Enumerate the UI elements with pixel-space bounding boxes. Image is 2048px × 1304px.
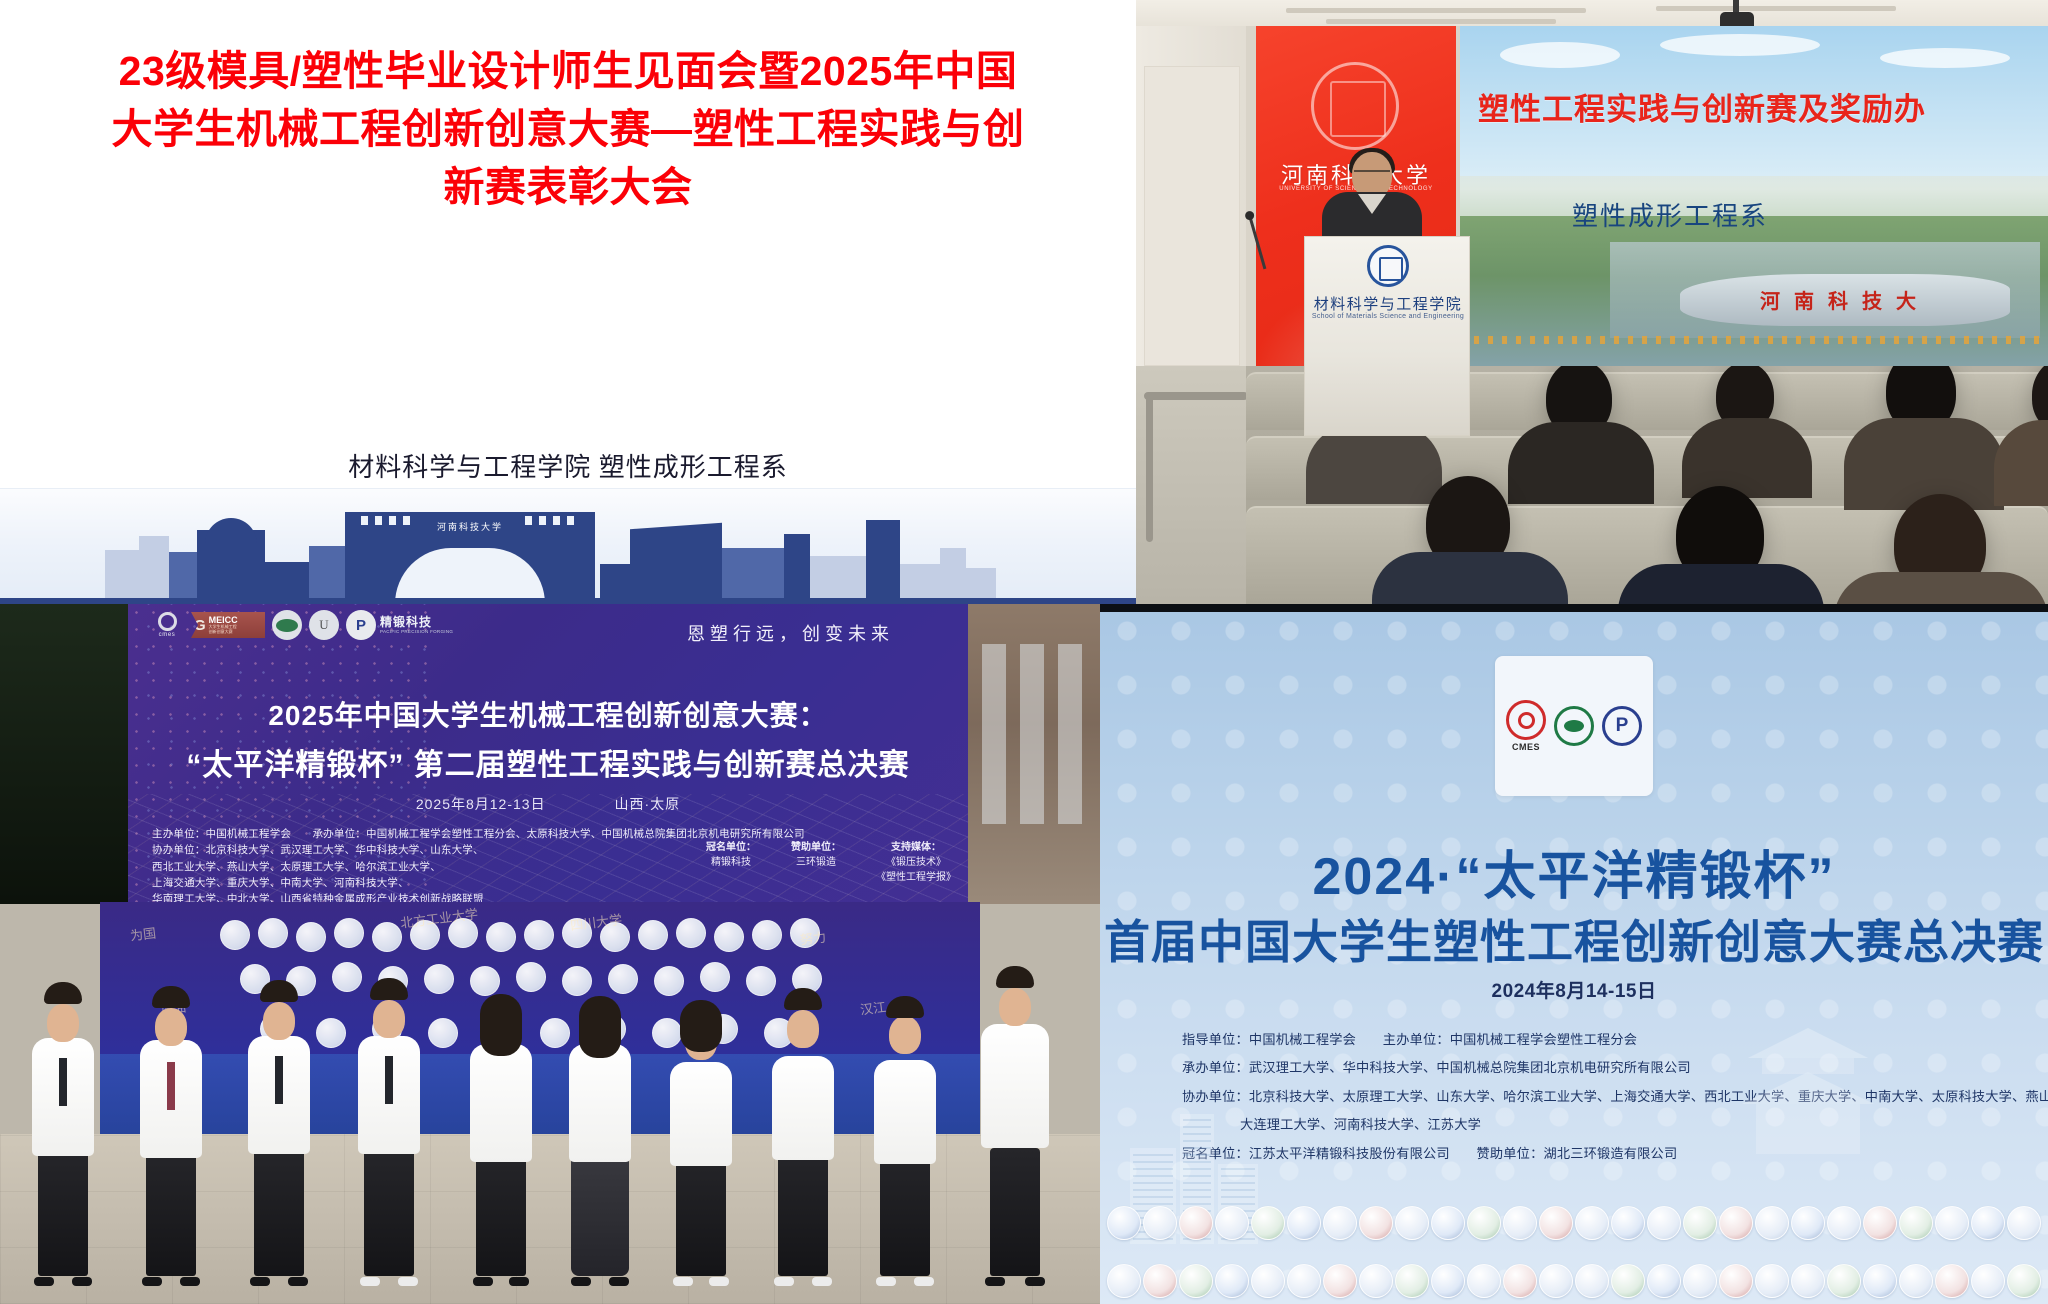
banner2024-title-line-1: 2024·“太平洋精锻杯” (1100, 834, 2048, 909)
university-emblem-icon (1791, 1206, 1825, 1240)
university-emblem-icon (1863, 1206, 1897, 1240)
pacific-forging-logo-icon: P (1602, 706, 1642, 746)
college-seal-icon (1367, 245, 1409, 287)
hand-rail (1144, 392, 1248, 400)
university-emblem-icon (1359, 1206, 1393, 1240)
university-emblem-icon (1575, 1264, 1609, 1298)
university-emblem-icon (1359, 1264, 1393, 1298)
group-member (242, 984, 316, 1286)
group-member (464, 998, 538, 1286)
university-emblem-icon (1431, 1264, 1465, 1298)
university-emblem-icon (1935, 1206, 1969, 1240)
slide-department: 材料科学与工程学院 塑性成形工程系 (0, 448, 1136, 487)
banner-logo-strip: cmes G MEICC大学生机械工程创新创意大赛 U P 精锻科技PACIFI… (150, 610, 453, 640)
title-slide-panel: 23级模具/塑性毕业设计师生见面会暨2025年中国 大学生机械工程创新创意大赛—… (0, 0, 1136, 604)
screen-flower-row (1460, 336, 2048, 344)
fine-print-row: 承办单位：武汉理工大学、华中科技大学、中国机械总院集团北京机电研究所有限公司 (1182, 1054, 2048, 1082)
campus-gate-graphic: 河南科技大学 (345, 512, 595, 604)
university-emblem-icon (1107, 1206, 1141, 1240)
fine-print-row: 主办单位：中国机械工程学会 承办单位：中国机械工程学会塑性工程分会、太原科技大学… (152, 826, 712, 842)
banner2024-pagoda-graphic (1718, 1024, 1898, 1154)
projection-screen: 河南科技大 塑性工程实践与创新赛及奖励办 塑性成形工程系 (1460, 26, 2048, 366)
university-emblem-icon (1539, 1264, 1573, 1298)
university-emblem-icon (1143, 1264, 1177, 1298)
university-emblem-icon (1503, 1264, 1537, 1298)
university-emblem-icon (1467, 1206, 1501, 1240)
banner2024-logo-block: CMES P (1495, 656, 1653, 796)
banner-title-line-2: “太平洋精锻杯” 第二届塑性工程实践与创新赛总决赛 (128, 740, 968, 784)
group-member (766, 992, 840, 1286)
lecture-hall-photo: 河南科技大学 UNIVERSITY OF SCIENCE AND TECHNOL… (1136, 0, 2048, 604)
university-emblem-icon (1791, 1264, 1825, 1298)
banner-fine-print: 主办单位：中国机械工程学会 承办单位：中国机械工程学会塑性工程分会、太原科技大学… (152, 826, 712, 906)
sponsor-name: 三环锻造 (791, 856, 841, 871)
university-emblem-icon (1719, 1206, 1753, 1240)
sponsor-name: 精锻科技 (706, 856, 756, 871)
university-emblem-icon (1755, 1206, 1789, 1240)
media-name: 《锻压技术》 (876, 856, 956, 871)
fine-print-row: 指导单位：中国机械工程学会 主办单位：中国机械工程学会塑性工程分会 (1182, 1026, 2048, 1054)
slide-title-line-1: 23级模具/塑性毕业设计师生见面会暨2025年中国 (40, 42, 1096, 100)
cmes-logo-icon: CMES (1506, 700, 1546, 752)
group-member (868, 1000, 942, 1286)
university-emblem-icon (1179, 1206, 1213, 1240)
university-emblem-icon (1575, 1206, 1609, 1240)
banner-date: 2025年8月12-13日 (416, 796, 546, 812)
banner2024-date: 2024年8月14-15日 (1100, 976, 2048, 1003)
group-member (26, 986, 100, 1286)
university-emblem-icon (1467, 1264, 1501, 1298)
university-emblem-icon (1683, 1206, 1717, 1240)
university-emblem-icon (1107, 1264, 1141, 1298)
university-emblem-icon (2007, 1264, 2041, 1298)
lectern-college-name: 材料科学与工程学院 (1305, 293, 1471, 314)
university-emblem-icon (1503, 1206, 1537, 1240)
dark-foliage (0, 604, 128, 904)
university-emblem-icon (1395, 1264, 1429, 1298)
hand-rail-post (1146, 392, 1153, 542)
sponsor-heading: 冠名单位： (706, 838, 756, 853)
media-heading: 支持媒体： (876, 838, 956, 853)
screen-title: 塑性工程实践与创新赛及奖励办 (1478, 84, 2048, 129)
university-emblem-icon (1287, 1264, 1321, 1298)
csta-logo-icon (272, 610, 302, 640)
sponsor-column: 冠名单位： 精锻科技 (706, 838, 756, 885)
group-photo-2025: cmes G MEICC大学生机械工程创新创意大赛 U P 精锻科技PACIFI… (0, 604, 1100, 1304)
university-emblem-icon (1719, 1264, 1753, 1298)
university-emblem-icon (1647, 1264, 1681, 1298)
university-emblem-icon (1827, 1206, 1861, 1240)
university-emblem-icon (1323, 1206, 1357, 1240)
u-emblem-logo-icon: U (309, 610, 339, 640)
collage-page: 23级模具/塑性毕业设计师生见面会暨2025年中国 大学生机械工程创新创意大赛—… (0, 0, 2048, 1304)
csta-logo-icon (1554, 706, 1594, 746)
university-seal-icon (1311, 62, 1399, 150)
lectern-college-name-en: School of Materials Science and Engineer… (1305, 313, 1471, 320)
university-emblem-icon (1395, 1206, 1429, 1240)
sponsor-column: 赞助单位： 三环锻造 (791, 838, 841, 885)
university-emblem-icon (1215, 1206, 1249, 1240)
group-member (134, 990, 208, 1286)
university-emblem-icon (1431, 1206, 1465, 1240)
university-emblem-icon (1971, 1206, 2005, 1240)
group-member (562, 1000, 638, 1286)
cmes-logo-label: CMES (1506, 742, 1546, 752)
banner-place: 山西·太原 (614, 796, 680, 812)
fine-print-row: 上海交通大学、重庆大学、中南大学、河南科技大学、 (152, 875, 712, 891)
background-building (968, 604, 1100, 904)
media-column: 支持媒体： 《锻压技术》 《塑性工程学报》 (876, 838, 956, 885)
sponsor-heading: 赞助单位： (791, 838, 841, 853)
slide-title-line-3: 新赛表彰大会 (40, 158, 1096, 216)
cmes-logo-icon: cmes (150, 610, 184, 640)
banner-title-line-1: 2025年中国大学生机械工程创新创意大赛： (128, 694, 968, 734)
university-emblem-icon (1539, 1206, 1573, 1240)
competition-banner-2025: cmes G MEICC大学生机械工程创新创意大赛 U P 精锻科技PACIFI… (128, 604, 968, 906)
banner-sponsor-columns: 冠名单位： 精锻科技 赞助单位： 三环锻造 支持媒体： 《锻压技术》 《塑性工程… (706, 838, 956, 885)
banner-photo-2024: CMES P 2024·“太平洋精锻杯” 首届中国大学生塑性工程创新创意大赛总决… (1100, 604, 2048, 1304)
group-member (976, 970, 1054, 1286)
university-emblem-icon (1143, 1206, 1177, 1240)
screen-rock-text: 河南科技大 (1680, 285, 2010, 314)
campus-skyline-graphic: 河南科技大学 (0, 500, 1136, 604)
screen-subtitle: 塑性成形工程系 (1572, 196, 2032, 233)
university-emblem-icon (1215, 1264, 1249, 1298)
media-name: 《塑性工程学报》 (876, 871, 956, 886)
university-emblem-icon (1251, 1264, 1285, 1298)
group-member (664, 1004, 738, 1286)
university-emblem-icon (1323, 1264, 1357, 1298)
university-emblem-icon (1863, 1264, 1897, 1298)
banner-meta-row: 2025年8月12-13日 山西·太原 (128, 794, 968, 814)
university-emblem-icon (1251, 1206, 1285, 1240)
slide-title-block: 23级模具/塑性毕业设计师生见面会暨2025年中国 大学生机械工程创新创意大赛—… (40, 42, 1096, 217)
university-emblem-icon (1935, 1264, 1969, 1298)
university-emblem-icon (1755, 1264, 1789, 1298)
fine-print-row: 协办单位：北京科技大学、武汉理工大学、华中科技大学、山东大学、 (152, 842, 712, 858)
meicc-logo-icon: G MEICC大学生机械工程创新创意大赛 (191, 612, 265, 638)
banner2024-emblem-row (1100, 1184, 2048, 1304)
university-emblem-icon (1899, 1264, 1933, 1298)
university-emblem-icon (2007, 1206, 2041, 1240)
speaker-glasses-icon (1354, 170, 1390, 178)
university-emblem-icon (1611, 1206, 1645, 1240)
university-emblem-icon (1971, 1264, 2005, 1298)
lectern: 材料科学与工程学院 School of Materials Science an… (1304, 236, 1470, 436)
university-emblem-icon (1827, 1264, 1861, 1298)
banner2024-title-line-2: 首届中国大学生塑性工程创新创意大赛总决赛 (1100, 906, 2048, 972)
university-emblem-icon (1179, 1264, 1213, 1298)
university-emblem-icon (1647, 1206, 1681, 1240)
slide-title-line-2: 大学生机械工程创新创意大赛—塑性工程实践与创 (40, 100, 1096, 158)
university-emblem-icon (1287, 1206, 1321, 1240)
pacific-forging-logo-icon: P 精锻科技PACIFIC PRECISION FORGING (346, 610, 453, 640)
university-emblem-icon (1683, 1264, 1717, 1298)
fine-print-row: 西北工业大学、燕山大学、太原理工大学、哈尔滨工业大学、 (152, 859, 712, 875)
banner-slogan: 恩塑行远，创变未来 (687, 620, 894, 646)
group-member (352, 982, 426, 1286)
university-emblem-icon (1611, 1264, 1645, 1298)
university-emblem-icon (1899, 1206, 1933, 1240)
